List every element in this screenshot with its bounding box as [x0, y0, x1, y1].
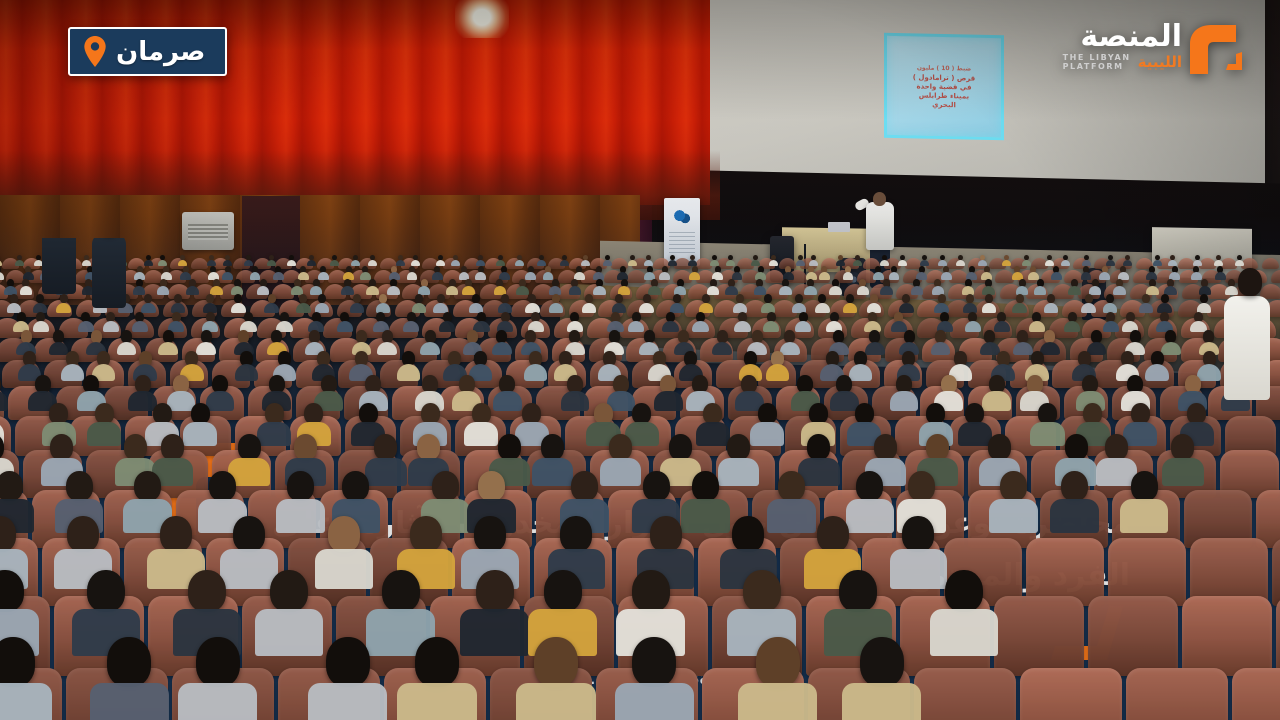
brand-tagline: THE LIBYAN PLATFORM — [1063, 53, 1131, 71]
brand-tagline-line1: THE LIBYAN — [1063, 53, 1131, 62]
brand-tagline-line2: PLATFORM — [1063, 62, 1124, 71]
map-pin-icon — [83, 36, 107, 67]
almenassa-r-mark-icon — [1188, 22, 1252, 80]
brand-logo: المنصة THE LIBYAN PLATFORM الليبية — [1063, 22, 1252, 80]
brand-name-arabic-small: الليبية — [1138, 55, 1182, 70]
brand-wordmark: المنصة THE LIBYAN PLATFORM الليبية — [1063, 22, 1182, 71]
audience-crowd — [0, 238, 1280, 720]
event-photo: ضبط ( 10 ) مليون قرص ( ترامادول ) في قضي… — [0, 0, 1280, 720]
news-card: ضبط ( 10 ) مليون قرص ( ترامادول ) في قضي… — [0, 0, 1280, 720]
brand-name-arabic: المنصة — [1080, 22, 1182, 52]
location-badge: صرمان — [68, 27, 227, 76]
location-label: صرمان — [116, 39, 205, 65]
brand-subtitle: THE LIBYAN PLATFORM الليبية — [1063, 53, 1182, 71]
